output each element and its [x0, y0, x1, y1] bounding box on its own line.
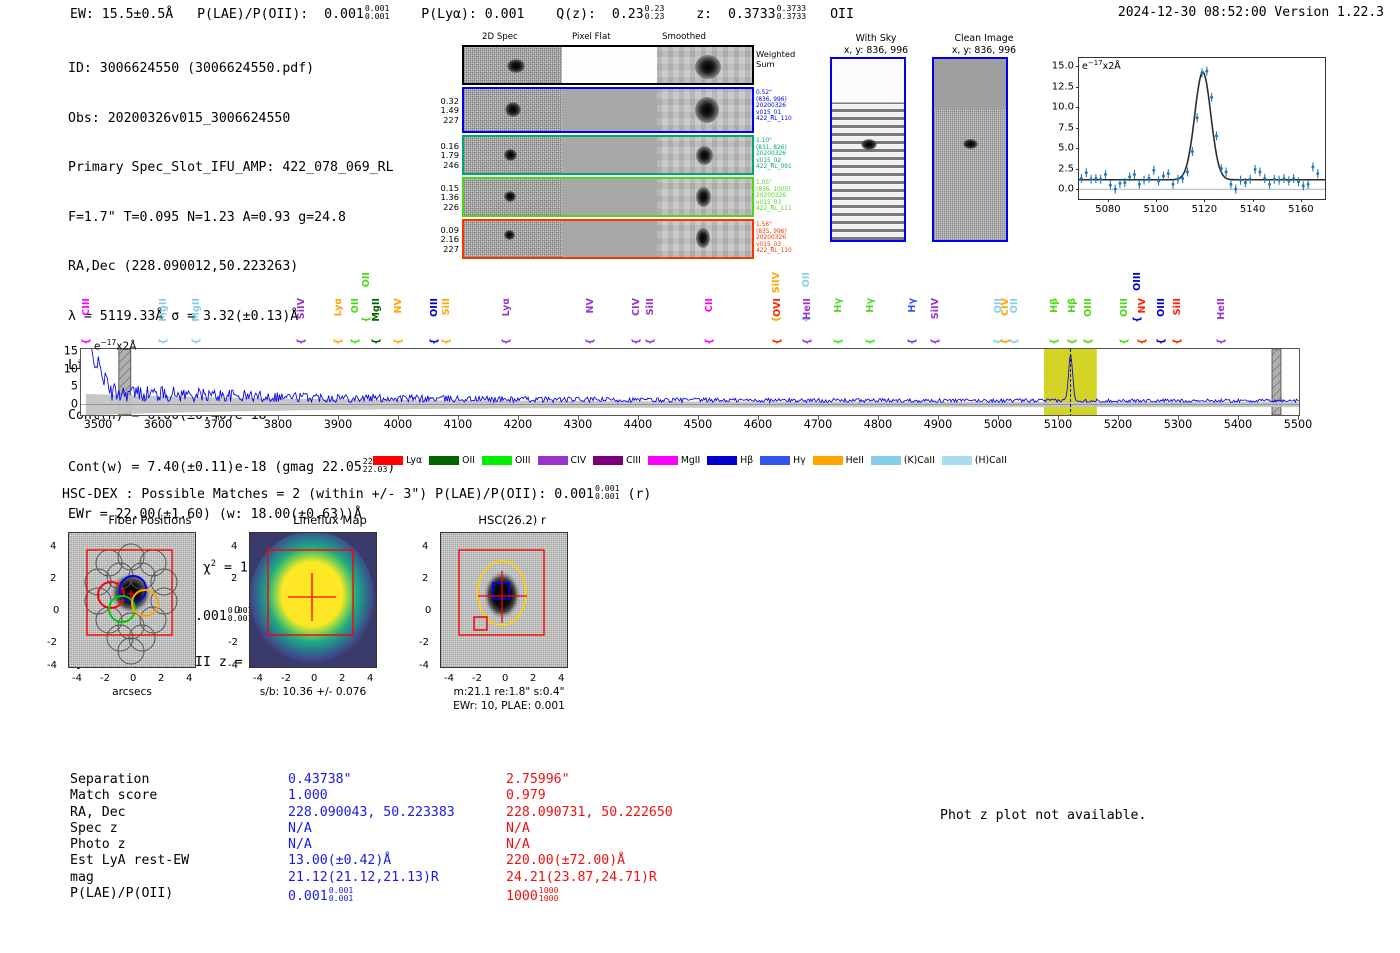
tick-mark	[1076, 128, 1079, 129]
tick-mark	[1076, 189, 1079, 190]
spectrum-ytick: 0	[71, 397, 78, 410]
tick-mark	[698, 416, 699, 420]
source-blob	[504, 149, 517, 161]
match-row-value-a: 13.00(±0.42)Å	[288, 853, 506, 869]
emission-line-label: SiIV	[771, 272, 782, 293]
emission-line-brace: {	[296, 338, 307, 345]
tick-mark	[1118, 416, 1119, 420]
match-row-value-a: 1.000	[288, 788, 506, 804]
emission-line-label: Hγ	[907, 298, 918, 313]
fiber-right-labels: 0.52"(836, 996)20200326v015_01422_RL_110	[756, 90, 792, 123]
tick-mark	[1238, 416, 1239, 420]
lineflux-ytick-0: 0	[234, 605, 240, 616]
tick-mark	[518, 416, 519, 420]
legend-item: (K)CaII	[871, 455, 935, 466]
fiber-xtick-0: 0	[130, 673, 136, 684]
hscdex-line-pre: HSC-DEX : Possible Matches = 2 (within +…	[62, 487, 594, 502]
tick-mark	[398, 416, 399, 420]
header-z-lo: 0.3733	[777, 11, 807, 21]
emission-line-label: SiII	[441, 298, 452, 315]
legend-label: HeII	[846, 455, 864, 466]
hsc-ytick-m2: -2	[419, 637, 429, 648]
match-row-value-a: 0.0010.0010.001	[288, 886, 506, 902]
emission-line-label: HeII	[802, 298, 813, 320]
emission-line-brace: {	[333, 338, 344, 345]
hsc-ytick-2: 2	[422, 573, 428, 584]
source-blob	[504, 230, 515, 240]
match-table-row: RA, Dec228.090043, 50.223383228.090731, …	[70, 805, 806, 821]
fiber-right-labels: 1.56"(835, 996)20200326v015_03422_RL_110	[756, 222, 792, 255]
header-plya: P(Lyα): 0.001	[421, 7, 524, 22]
source-blob	[695, 97, 719, 123]
hsc-r-title: HSC(26.2) r	[422, 513, 602, 527]
match-table-row: mag21.12(21.12,21.13)R24.21(23.87,24.71)…	[70, 870, 806, 886]
line-fit-xtick: 5120	[1192, 204, 1217, 215]
header-qz-value: 0.23	[612, 7, 644, 22]
full-spectrum-axes	[80, 348, 1300, 416]
tick-mark	[818, 416, 819, 420]
fiber-ytick-m4: -4	[47, 660, 57, 671]
cleanimage-pixels	[934, 59, 1006, 240]
match-row-value-a: 21.12(21.12,21.13)R	[288, 870, 506, 886]
withsky-pixels	[832, 59, 904, 240]
legend-swatch	[482, 456, 512, 465]
line-fit-plot: e−17x2Å 0.02.55.07.510.012.515.050805100…	[1040, 53, 1328, 230]
fiber-xtick-m4: -4	[72, 673, 82, 684]
legend-swatch	[707, 456, 737, 465]
legend-item: CIII	[593, 455, 641, 466]
line-fit-ytick: 0.0	[1058, 184, 1074, 195]
emission-line-brace: {	[1172, 338, 1183, 345]
emission-line-brace: {	[865, 338, 876, 345]
emission-line-brace: {	[371, 338, 382, 345]
legend-item: MgII	[648, 455, 700, 466]
match-row-value-b: 100010001000	[506, 886, 806, 902]
cleanimage-image	[932, 57, 1008, 242]
tick-mark	[758, 416, 759, 420]
emission-line-brace: {	[441, 338, 452, 345]
emission-line-label: NV	[585, 298, 596, 313]
match-table-row-plae: P(LAE)/P(OII)0.0010.0010.001100010001000	[70, 886, 806, 902]
match-row-value-a: 0.43738"	[288, 772, 506, 788]
fiber-left-labels: 0.151.36226	[441, 184, 459, 212]
source-blob	[507, 59, 525, 73]
emission-line-label: OIII	[1132, 272, 1143, 291]
match-row-value-a: N/A	[288, 837, 506, 853]
emission-line-label: Hβ	[1067, 298, 1078, 313]
header-qz-label: Q(z):	[556, 7, 596, 22]
hsc-ytick-m4: -4	[419, 660, 429, 671]
legend-label: (K)CaII	[904, 455, 935, 466]
emission-line-brace: {	[802, 338, 813, 345]
emission-line-brace: {	[585, 338, 596, 345]
emission-line-brace: {	[1067, 338, 1078, 345]
plae-frac-b: 10001000	[539, 886, 559, 903]
line-fit-ytick: 12.5	[1052, 81, 1074, 92]
legend-swatch	[813, 456, 843, 465]
withsky-title: With Sky x, y: 836, 996	[826, 33, 926, 56]
match-table-row: Photo zN/AN/A	[70, 837, 806, 853]
tick-mark	[338, 416, 339, 420]
fiber-2dspec	[464, 137, 562, 173]
emission-line-brace: {	[704, 338, 715, 345]
line-fit-ytick: 10.0	[1052, 102, 1074, 113]
fiber-right-labels: 1.05"(836, 1005)20200326v015_03422_RL_11…	[756, 180, 792, 213]
hsc-r-image[interactable]	[440, 532, 568, 668]
header-plae-label: P(LAE)/P(OII):	[197, 7, 308, 22]
match-table-row: Spec zN/AN/A	[70, 821, 806, 837]
full-spectrum-svg	[81, 349, 1299, 415]
match-table-row: Est LyA rest-EW13.00(±0.42)Å220.00(±72.0…	[70, 853, 806, 869]
tick-mark	[1076, 107, 1079, 108]
fiber-overlay-svg	[69, 533, 196, 668]
fiber-smoothed	[657, 137, 752, 173]
emission-line-brace: {	[1156, 338, 1167, 345]
spectrum-ytick: 15	[64, 345, 78, 358]
emission-line-brace: {	[81, 338, 92, 345]
emission-line-brace: {	[191, 338, 202, 345]
emission-line-label: NV	[1137, 298, 1148, 313]
header-z-value: 0.3733	[728, 7, 776, 22]
legend-swatch	[538, 456, 568, 465]
match-row-label: Photo z	[70, 837, 288, 853]
hsc-xtick-0: 0	[502, 673, 508, 684]
fiber-2dspec	[464, 221, 562, 257]
legend-label: (H)CaII	[975, 455, 1007, 466]
emission-line-label: MgII	[371, 298, 382, 322]
legend-swatch	[760, 456, 790, 465]
emission-line-brace: {	[361, 316, 372, 323]
match-row-value-b: N/A	[506, 837, 806, 853]
spec2d-column-titles: 2D Spec Pixel Flat Smoothed	[462, 32, 754, 45]
fiber-positions-pixels	[69, 533, 195, 667]
fiber-xtick-m2: -2	[100, 673, 110, 684]
plae-frac-a: 0.0010.001	[329, 886, 354, 903]
hsc-r-overlay-svg	[441, 533, 568, 668]
fiber-left-labels: 0.321.49227	[441, 97, 459, 125]
fiber-xtick-4: 4	[186, 673, 192, 684]
spec2d-summary-smoothed	[657, 47, 752, 83]
fiber-smoothed	[657, 89, 752, 131]
hsc-caption-2: EWr: 10, PLAE: 0.001	[434, 700, 584, 712]
tick-mark	[278, 416, 279, 420]
line-fit-svg	[1079, 58, 1325, 199]
match-box-red	[474, 617, 487, 630]
match-row-value-b: N/A	[506, 821, 806, 837]
info-obs: Obs: 20200326v015_3006624550	[68, 111, 395, 128]
lineflux-map-image[interactable]	[249, 532, 377, 668]
spec2d-fiber-row: 0.151.362261.05"(836, 1005)20200326v015_…	[462, 177, 754, 217]
legend-label: OIII	[515, 455, 531, 466]
emission-line-brace: {	[631, 338, 642, 345]
spec2d-fiber-row: 0.161.792461.10"(831, 826)20200326v015_0…	[462, 135, 754, 175]
match-row-label: Separation	[70, 772, 288, 788]
legend-swatch	[648, 456, 678, 465]
tick-mark	[1108, 199, 1109, 202]
fiber-positions-image[interactable]	[68, 532, 196, 668]
emission-line-brace: {	[772, 338, 783, 345]
tick-mark	[578, 416, 579, 420]
match-row-value-b: 24.21(23.87,24.71)R	[506, 870, 806, 886]
line-fit-ytick: 2.5	[1058, 163, 1074, 174]
emission-line-label: NV	[393, 298, 404, 313]
header-ew: EW: 15.5±0.5Å	[70, 7, 173, 22]
emission-line-label: SiII	[645, 298, 656, 315]
spec2d-fiber-rows: 0.321.492270.52"(836, 996)20200326v015_0…	[462, 87, 754, 259]
legend-swatch	[429, 456, 459, 465]
photz-message: Phot z plot not available.	[940, 808, 1146, 823]
source-blob	[505, 102, 521, 117]
match-row-value-b: 228.090731, 50.222650	[506, 805, 806, 821]
lineflux-xtick-2: 2	[339, 673, 345, 684]
emission-line-label: Hγ	[865, 298, 876, 313]
emission-line-brace: {	[645, 338, 656, 345]
legend-swatch	[373, 456, 403, 465]
hsc-xtick-2: 2	[530, 673, 536, 684]
tick-mark	[1058, 416, 1059, 420]
emission-line-brace: {	[907, 338, 918, 345]
withsky-image	[830, 57, 906, 242]
line-fit-ytick: 5.0	[1058, 143, 1074, 154]
lineflux-ytick-4: 4	[231, 541, 237, 552]
legend-item: OIII	[482, 455, 531, 466]
tick-mark	[1204, 199, 1205, 202]
source-blob	[695, 55, 721, 79]
emission-line-label: Hγ	[833, 298, 844, 313]
match-row-value-a: 228.090043, 50.223383	[288, 805, 506, 821]
tick-mark	[1076, 87, 1079, 88]
lineflux-caption: s/b: 10.36 +/- 0.076	[243, 686, 383, 698]
info-id: ID: 3006624550 (3006624550.pdf)	[68, 61, 395, 78]
lineflux-xtick-m2: -2	[281, 673, 291, 684]
tick-mark	[1301, 199, 1302, 202]
match-row-value-b: 2.75996"	[506, 772, 806, 788]
fiber-smoothed	[657, 179, 752, 215]
emission-line-brace: {	[1119, 338, 1130, 345]
fiber-ytick-m2: -2	[47, 637, 57, 648]
legend-item: HeII	[813, 455, 864, 466]
lineflux-ytick-m2: -2	[228, 637, 238, 648]
legend-swatch	[593, 456, 623, 465]
source-blob	[696, 146, 713, 165]
tick-mark	[1298, 416, 1299, 420]
legend-label: Lyα	[406, 455, 422, 466]
tick-mark	[638, 416, 639, 420]
source-blob	[504, 191, 516, 202]
emission-line-brace: {	[833, 338, 844, 345]
emission-line-label: Hβ	[1049, 298, 1060, 313]
spec2d-title-pixelflat: Pixel Flat	[572, 32, 611, 42]
tick-mark	[458, 416, 459, 420]
emission-line-brace: {	[350, 338, 361, 345]
emission-line-brace: {	[429, 338, 440, 345]
spectrum-ytick: 10	[64, 362, 78, 375]
match-table-row: Separation0.43738"2.75996"	[70, 772, 806, 788]
emission-line-brace: {	[1083, 338, 1094, 345]
fiber-pixelflat	[562, 221, 657, 257]
lineflux-map-title: Lineflux Map	[240, 513, 420, 527]
match-row-value-b: 220.00(±72.00)Å	[506, 853, 806, 869]
hscdex-line-post: (r)	[620, 487, 652, 502]
header-plae-lo: 0.001	[365, 11, 390, 21]
fiber-pixelflat	[562, 89, 657, 131]
emission-line-label: MgII	[158, 298, 169, 322]
emission-line-brace: {	[393, 338, 404, 345]
fiber-positions-title: Fiber Positions	[60, 513, 240, 527]
legend-label: CIV	[571, 455, 587, 466]
hsc-caption-1: m:21.1 re:1.8" s:0.4"	[434, 686, 584, 698]
match-row-label: P(LAE)/P(OII)	[70, 886, 288, 902]
emission-line-label: SiIV	[296, 298, 307, 319]
emission-line-label: CIII	[81, 298, 92, 316]
full-spectrum-plot: CIII{MgII{MgII{SiIV{Lyα{OII{OII{MgII{NV{…	[80, 274, 1300, 444]
spec2d-summary-pixelflat	[562, 47, 657, 83]
full-spectrum-unit-label: e−17x2Å	[94, 338, 136, 353]
emission-line-label: OII	[361, 272, 372, 287]
emission-line-label: Lyα	[333, 298, 344, 316]
tick-mark	[1076, 66, 1079, 67]
fiber-xlabel: arcsecs	[72, 686, 192, 698]
fiber-ytick-2: 2	[50, 573, 56, 584]
match-table: Separation0.43738"2.75996"Match score1.0…	[70, 772, 806, 902]
legend-item: (H)CaII	[942, 455, 1007, 466]
emission-line-brace: {	[1049, 338, 1060, 345]
line-fit-ytick: 7.5	[1058, 122, 1074, 133]
spectrum-ytick: 5	[71, 380, 78, 393]
match-row-label: Spec z	[70, 821, 288, 837]
fiber-ytick-0: 0	[53, 605, 59, 616]
spec2d-fiber-row: 0.321.492270.52"(836, 996)20200326v015_0…	[462, 87, 754, 133]
hsc-ytick-0: 0	[425, 605, 431, 616]
emission-line-label: MgII	[191, 298, 202, 322]
emission-line-label: SiIV	[930, 298, 941, 319]
emission-line-label: CIV	[631, 298, 642, 316]
emission-line-brace: {	[1216, 338, 1227, 345]
lineflux-xtick-4: 4	[367, 673, 373, 684]
emission-line-brace: {	[1132, 316, 1143, 323]
legend-item: Hβ	[707, 455, 753, 466]
emission-line-brace: {	[771, 316, 782, 323]
hsc-xtick-m4: -4	[444, 673, 454, 684]
match-row-value-a: N/A	[288, 821, 506, 837]
header-z-label: z:	[696, 7, 712, 22]
match-row-label: RA, Dec	[70, 805, 288, 821]
fiber-xtick-2: 2	[158, 673, 164, 684]
source-blob	[696, 187, 711, 207]
source-blob	[963, 139, 978, 149]
tick-mark	[1253, 199, 1254, 202]
spec2d-panel-group: 2D Spec Pixel Flat Smoothed Weighted Sum…	[462, 32, 754, 261]
emission-line-label: OIII	[1156, 298, 1167, 317]
legend-label: OII	[462, 455, 475, 466]
spec2d-row-summary: Weighted Sum	[462, 45, 754, 85]
hsc-xtick-m2: -2	[472, 673, 482, 684]
line-fit-unit-label: e−17x2Å	[1082, 59, 1121, 72]
lineflux-xtick-0: 0	[311, 673, 317, 684]
info-seeing: F=1.7" T=0.095 N=1.23 A=0.93 g=24.8	[68, 210, 395, 227]
emission-line-brace: {	[930, 338, 941, 345]
legend-label: Hβ	[740, 455, 753, 466]
line-fit-axes: e−17x2Å 0.02.55.07.510.012.515.050805100…	[1078, 57, 1326, 200]
tick-mark	[218, 416, 219, 420]
tick-mark	[1178, 416, 1179, 420]
lineflux-ytick-2: 2	[231, 573, 237, 584]
fiber-smoothed	[657, 221, 752, 257]
tick-mark	[878, 416, 879, 420]
match-row-label: mag	[70, 870, 288, 886]
emission-line-brace: {	[501, 338, 512, 345]
header-z-type: OII	[830, 7, 854, 22]
legend-label: Hγ	[793, 455, 806, 466]
match-table-row: Match score1.0000.979	[70, 788, 806, 804]
line-fit-xtick: 5160	[1288, 204, 1313, 215]
header-summary-line: EW: 15.5±0.5Å P(LAE)/P(OII): 0.0010.0010…	[70, 4, 854, 22]
legend-item: Hγ	[760, 455, 806, 466]
cleanimage-title: Clean Image x, y: 836, 996	[930, 33, 1038, 56]
legend-label: CIII	[626, 455, 641, 466]
emission-line-label: CII	[704, 298, 715, 312]
lineflux-ytick-m4: -4	[228, 660, 238, 671]
legend-item: Lyα	[373, 455, 422, 466]
emission-line-label: HeII	[1216, 298, 1227, 320]
source-blob	[696, 228, 710, 248]
fiber-2dspec	[464, 179, 562, 215]
weighted-sum-label: Weighted Sum	[756, 50, 795, 69]
tick-mark	[938, 416, 939, 420]
tick-mark	[1076, 148, 1079, 149]
line-fit-xtick: 5080	[1095, 204, 1120, 215]
tick-mark	[158, 416, 159, 420]
header-plae-value: 0.001	[324, 7, 364, 22]
timestamp-version: 2024-12-30 08:52:00 Version 1.22.3	[1118, 5, 1384, 20]
tick-mark	[1156, 199, 1157, 202]
emission-line-label: OIII	[1119, 298, 1130, 317]
emission-line-brace: {	[158, 338, 169, 345]
legend-item: CIV	[538, 455, 587, 466]
hsc-ytick-4: 4	[422, 541, 428, 552]
emission-line-label: OVI	[772, 298, 783, 317]
header-qz-lo: 0.23	[645, 11, 665, 21]
source-blob	[861, 139, 877, 150]
emission-line-label: OIII	[1083, 298, 1094, 317]
line-fit-xtick: 5100	[1143, 204, 1168, 215]
legend-label: MgII	[681, 455, 700, 466]
fiber-ytick-4: 4	[50, 541, 56, 552]
fiber-pixelflat	[562, 137, 657, 173]
tick-mark	[998, 416, 999, 420]
hsc-r-pixels	[441, 533, 567, 667]
hscdex-summary-line: HSC-DEX : Possible Matches = 2 (within +…	[62, 484, 651, 502]
line-fit-xtick: 5140	[1240, 204, 1265, 215]
fiber-pixelflat	[562, 179, 657, 215]
emission-line-label: SiII	[1172, 298, 1183, 315]
match-row-label: Match score	[70, 788, 288, 804]
info-primary-spec: Primary Spec_Slot_IFU_AMP: 422_078_069_R…	[68, 160, 395, 177]
tick-mark	[98, 416, 99, 420]
hscdex-plae-lo: 0.001	[595, 491, 620, 501]
match-row-label: Est LyA rest-EW	[70, 853, 288, 869]
legend-swatch	[871, 456, 901, 465]
emission-line-brace: {	[1009, 338, 1020, 345]
spec2d-summary-2dspec	[464, 47, 562, 83]
spec2d-title-smoothed: Smoothed	[662, 32, 706, 42]
emission-line-brace: {	[1137, 338, 1148, 345]
emission-line-label: OIII	[429, 298, 440, 317]
emission-line-label: Lyα	[501, 298, 512, 316]
match-row-value-b: 0.979	[506, 788, 806, 804]
spec2d-title-2dspec: 2D Spec	[482, 32, 518, 42]
emission-line-label: OII	[1009, 298, 1020, 313]
